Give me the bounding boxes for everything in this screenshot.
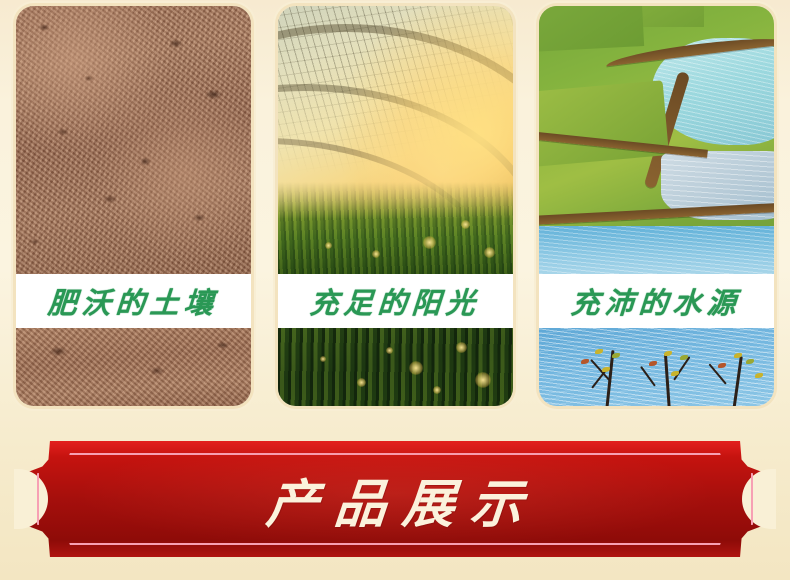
fertile-soil-photo-lower bbox=[16, 328, 251, 406]
feature-card-label-soil: 肥沃的土壤 bbox=[47, 280, 220, 322]
feature-card-label-water: 充沛的水源 bbox=[570, 280, 743, 322]
water-source-photo bbox=[539, 6, 774, 274]
feature-card-soil[interactable]: 肥沃的土壤 bbox=[16, 6, 251, 406]
feature-cards-row: 肥沃的土壤 bbox=[0, 0, 790, 412]
banner-title-text: 产品展示 bbox=[10, 441, 780, 557]
feature-card-water[interactable]: 充沛的水源 bbox=[539, 6, 774, 406]
feature-card-sunlight[interactable]: 充足的阳光 bbox=[278, 6, 513, 406]
feature-card-label-band: 肥沃的土壤 bbox=[16, 274, 251, 328]
feature-card-label-band: 充沛的水源 bbox=[539, 274, 774, 328]
feature-card-label-sunlight: 充足的阳光 bbox=[309, 280, 482, 322]
greenhouse-sunlight-photo-lower bbox=[278, 328, 513, 406]
promo-page: 肥沃的土壤 bbox=[0, 0, 790, 580]
feature-card-label-band: 充足的阳光 bbox=[278, 274, 513, 328]
product-display-banner: 产品展示 bbox=[15, 441, 775, 557]
greenhouse-sunlight-photo bbox=[278, 6, 513, 274]
water-source-photo-lower bbox=[539, 328, 774, 406]
fertile-soil-photo bbox=[16, 6, 251, 274]
